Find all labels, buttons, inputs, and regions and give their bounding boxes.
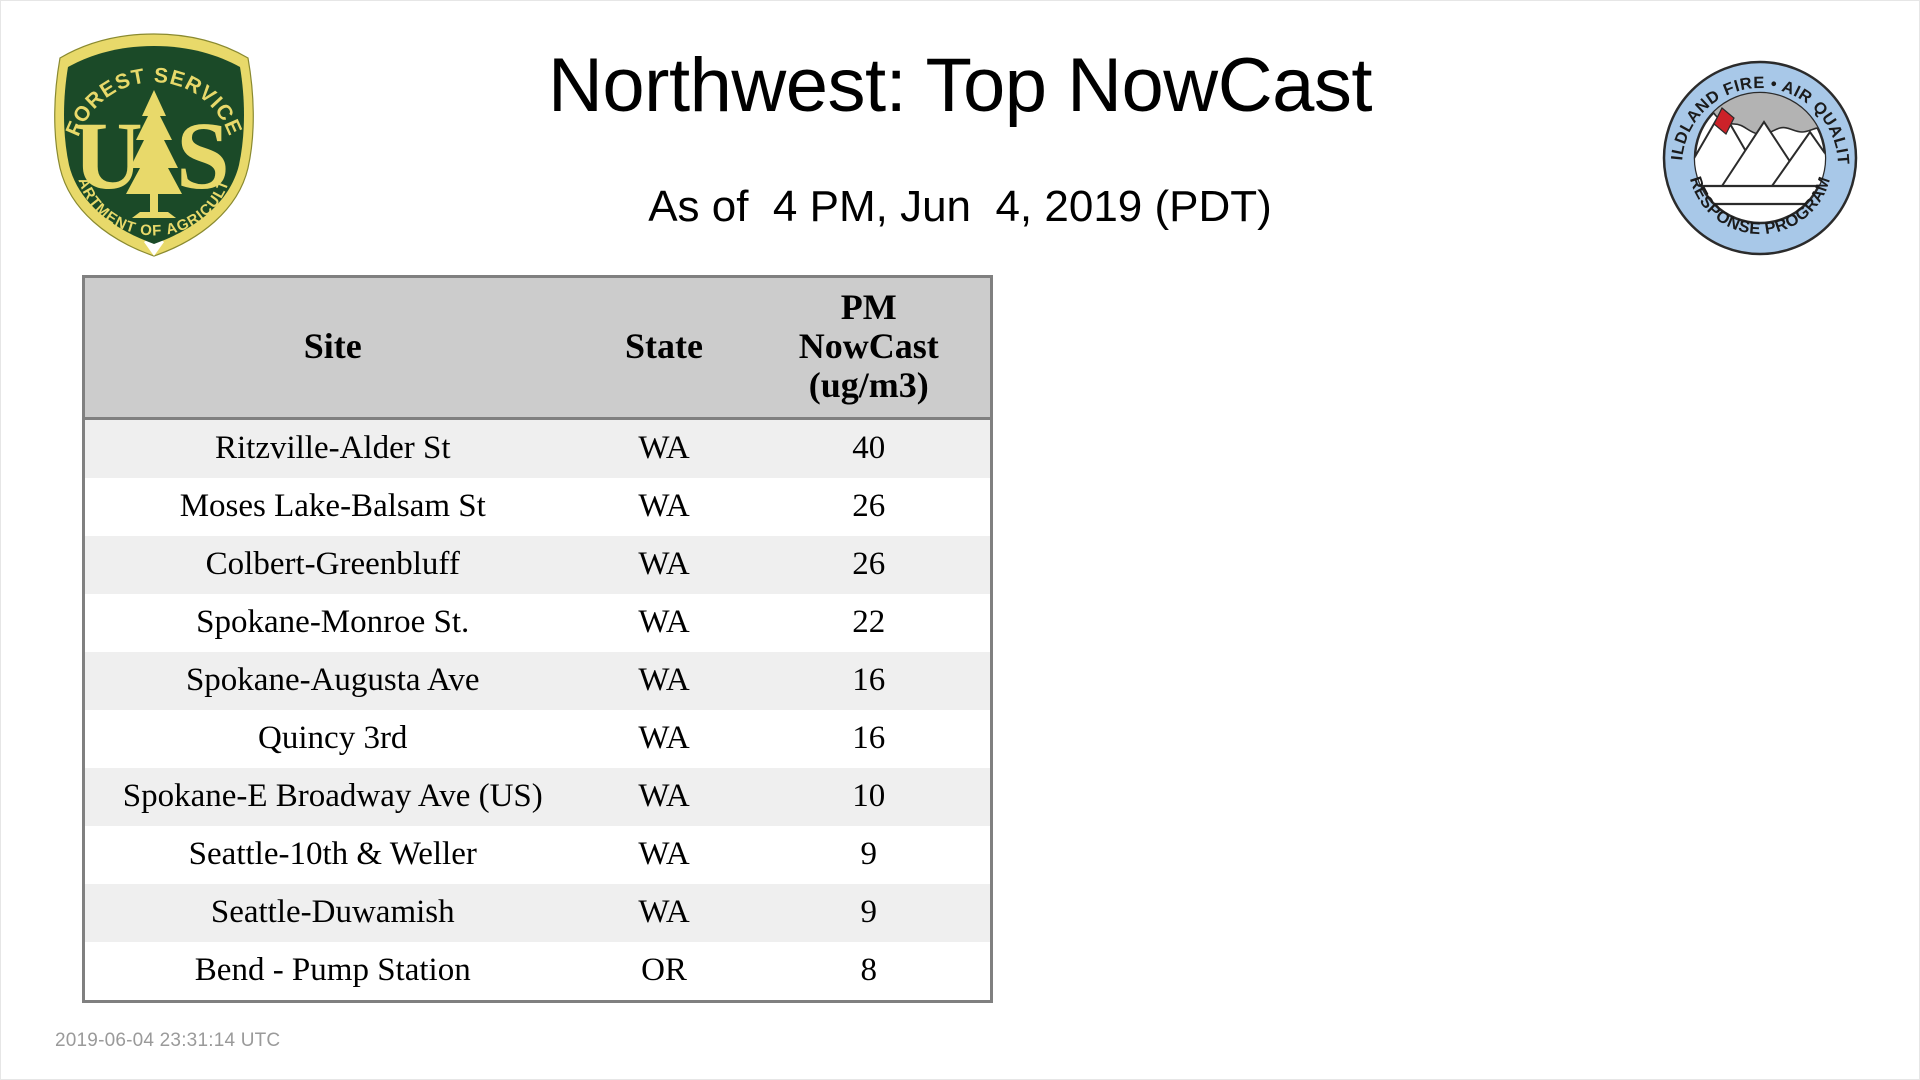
column-header-pm-nowcast[interactable]: PM NowCast (ug/m3) [748, 277, 992, 419]
nowcast-table-container: Site State PM NowCast (ug/m3) Ritzville-… [82, 275, 990, 1003]
page-subtitle: As of 4 PM, Jun 4, 2019 (PDT) [0, 185, 1920, 229]
table-row[interactable]: Seattle-DuwamishWA9 [84, 884, 992, 942]
column-header-site[interactable]: Site [84, 277, 581, 419]
table-row[interactable]: Bend - Pump StationOR8 [84, 942, 992, 1002]
cell-pm-nowcast: 9 [748, 884, 992, 942]
cell-state: OR [581, 942, 748, 1002]
cell-state: WA [581, 536, 748, 594]
cell-site: Spokane-E Broadway Ave (US) [84, 768, 581, 826]
table-row[interactable]: Spokane-Monroe St.WA22 [84, 594, 992, 652]
cell-state: WA [581, 652, 748, 710]
cell-state: WA [581, 826, 748, 884]
column-header-state[interactable]: State [581, 277, 748, 419]
footer-timestamp: 2019-06-04 23:31:14 UTC [55, 1030, 280, 1052]
cell-site: Colbert-Greenbluff [84, 536, 581, 594]
cell-pm-nowcast: 16 [748, 652, 992, 710]
cell-state: WA [581, 884, 748, 942]
cell-site: Ritzville-Alder St [84, 418, 581, 478]
cell-pm-nowcast: 22 [748, 594, 992, 652]
cell-state: WA [581, 594, 748, 652]
table-header-row: Site State PM NowCast (ug/m3) [84, 277, 992, 419]
nowcast-table: Site State PM NowCast (ug/m3) Ritzville-… [82, 275, 993, 1003]
cell-state: WA [581, 478, 748, 536]
table-header: Site State PM NowCast (ug/m3) [84, 277, 992, 419]
cell-state: WA [581, 710, 748, 768]
cell-site: Spokane-Augusta Ave [84, 652, 581, 710]
cell-pm-nowcast: 26 [748, 536, 992, 594]
cell-pm-nowcast: 40 [748, 418, 992, 478]
table-row[interactable]: Spokane-E Broadway Ave (US)WA10 [84, 768, 992, 826]
page-title: Northwest: Top NowCast [0, 48, 1920, 124]
cell-site: Seattle-10th & Weller [84, 826, 581, 884]
cell-pm-nowcast: 8 [748, 942, 992, 1002]
table-row[interactable]: Spokane-Augusta AveWA16 [84, 652, 992, 710]
cell-site: Moses Lake-Balsam St [84, 478, 581, 536]
table-row[interactable]: Seattle-10th & WellerWA9 [84, 826, 992, 884]
cell-pm-nowcast: 10 [748, 768, 992, 826]
cell-site: Bend - Pump Station [84, 942, 581, 1002]
table-row[interactable]: Quincy 3rdWA16 [84, 710, 992, 768]
table-row[interactable]: Moses Lake-Balsam StWA26 [84, 478, 992, 536]
table-row[interactable]: Ritzville-Alder StWA40 [84, 418, 992, 478]
cell-site: Quincy 3rd [84, 710, 581, 768]
cell-state: WA [581, 768, 748, 826]
cell-site: Spokane-Monroe St. [84, 594, 581, 652]
cell-site: Seattle-Duwamish [84, 884, 581, 942]
table-row[interactable]: Colbert-GreenbluffWA26 [84, 536, 992, 594]
table-body: Ritzville-Alder StWA40Moses Lake-Balsam … [84, 418, 992, 1001]
cell-pm-nowcast: 26 [748, 478, 992, 536]
cell-pm-nowcast: 16 [748, 710, 992, 768]
cell-state: WA [581, 418, 748, 478]
cell-pm-nowcast: 9 [748, 826, 992, 884]
